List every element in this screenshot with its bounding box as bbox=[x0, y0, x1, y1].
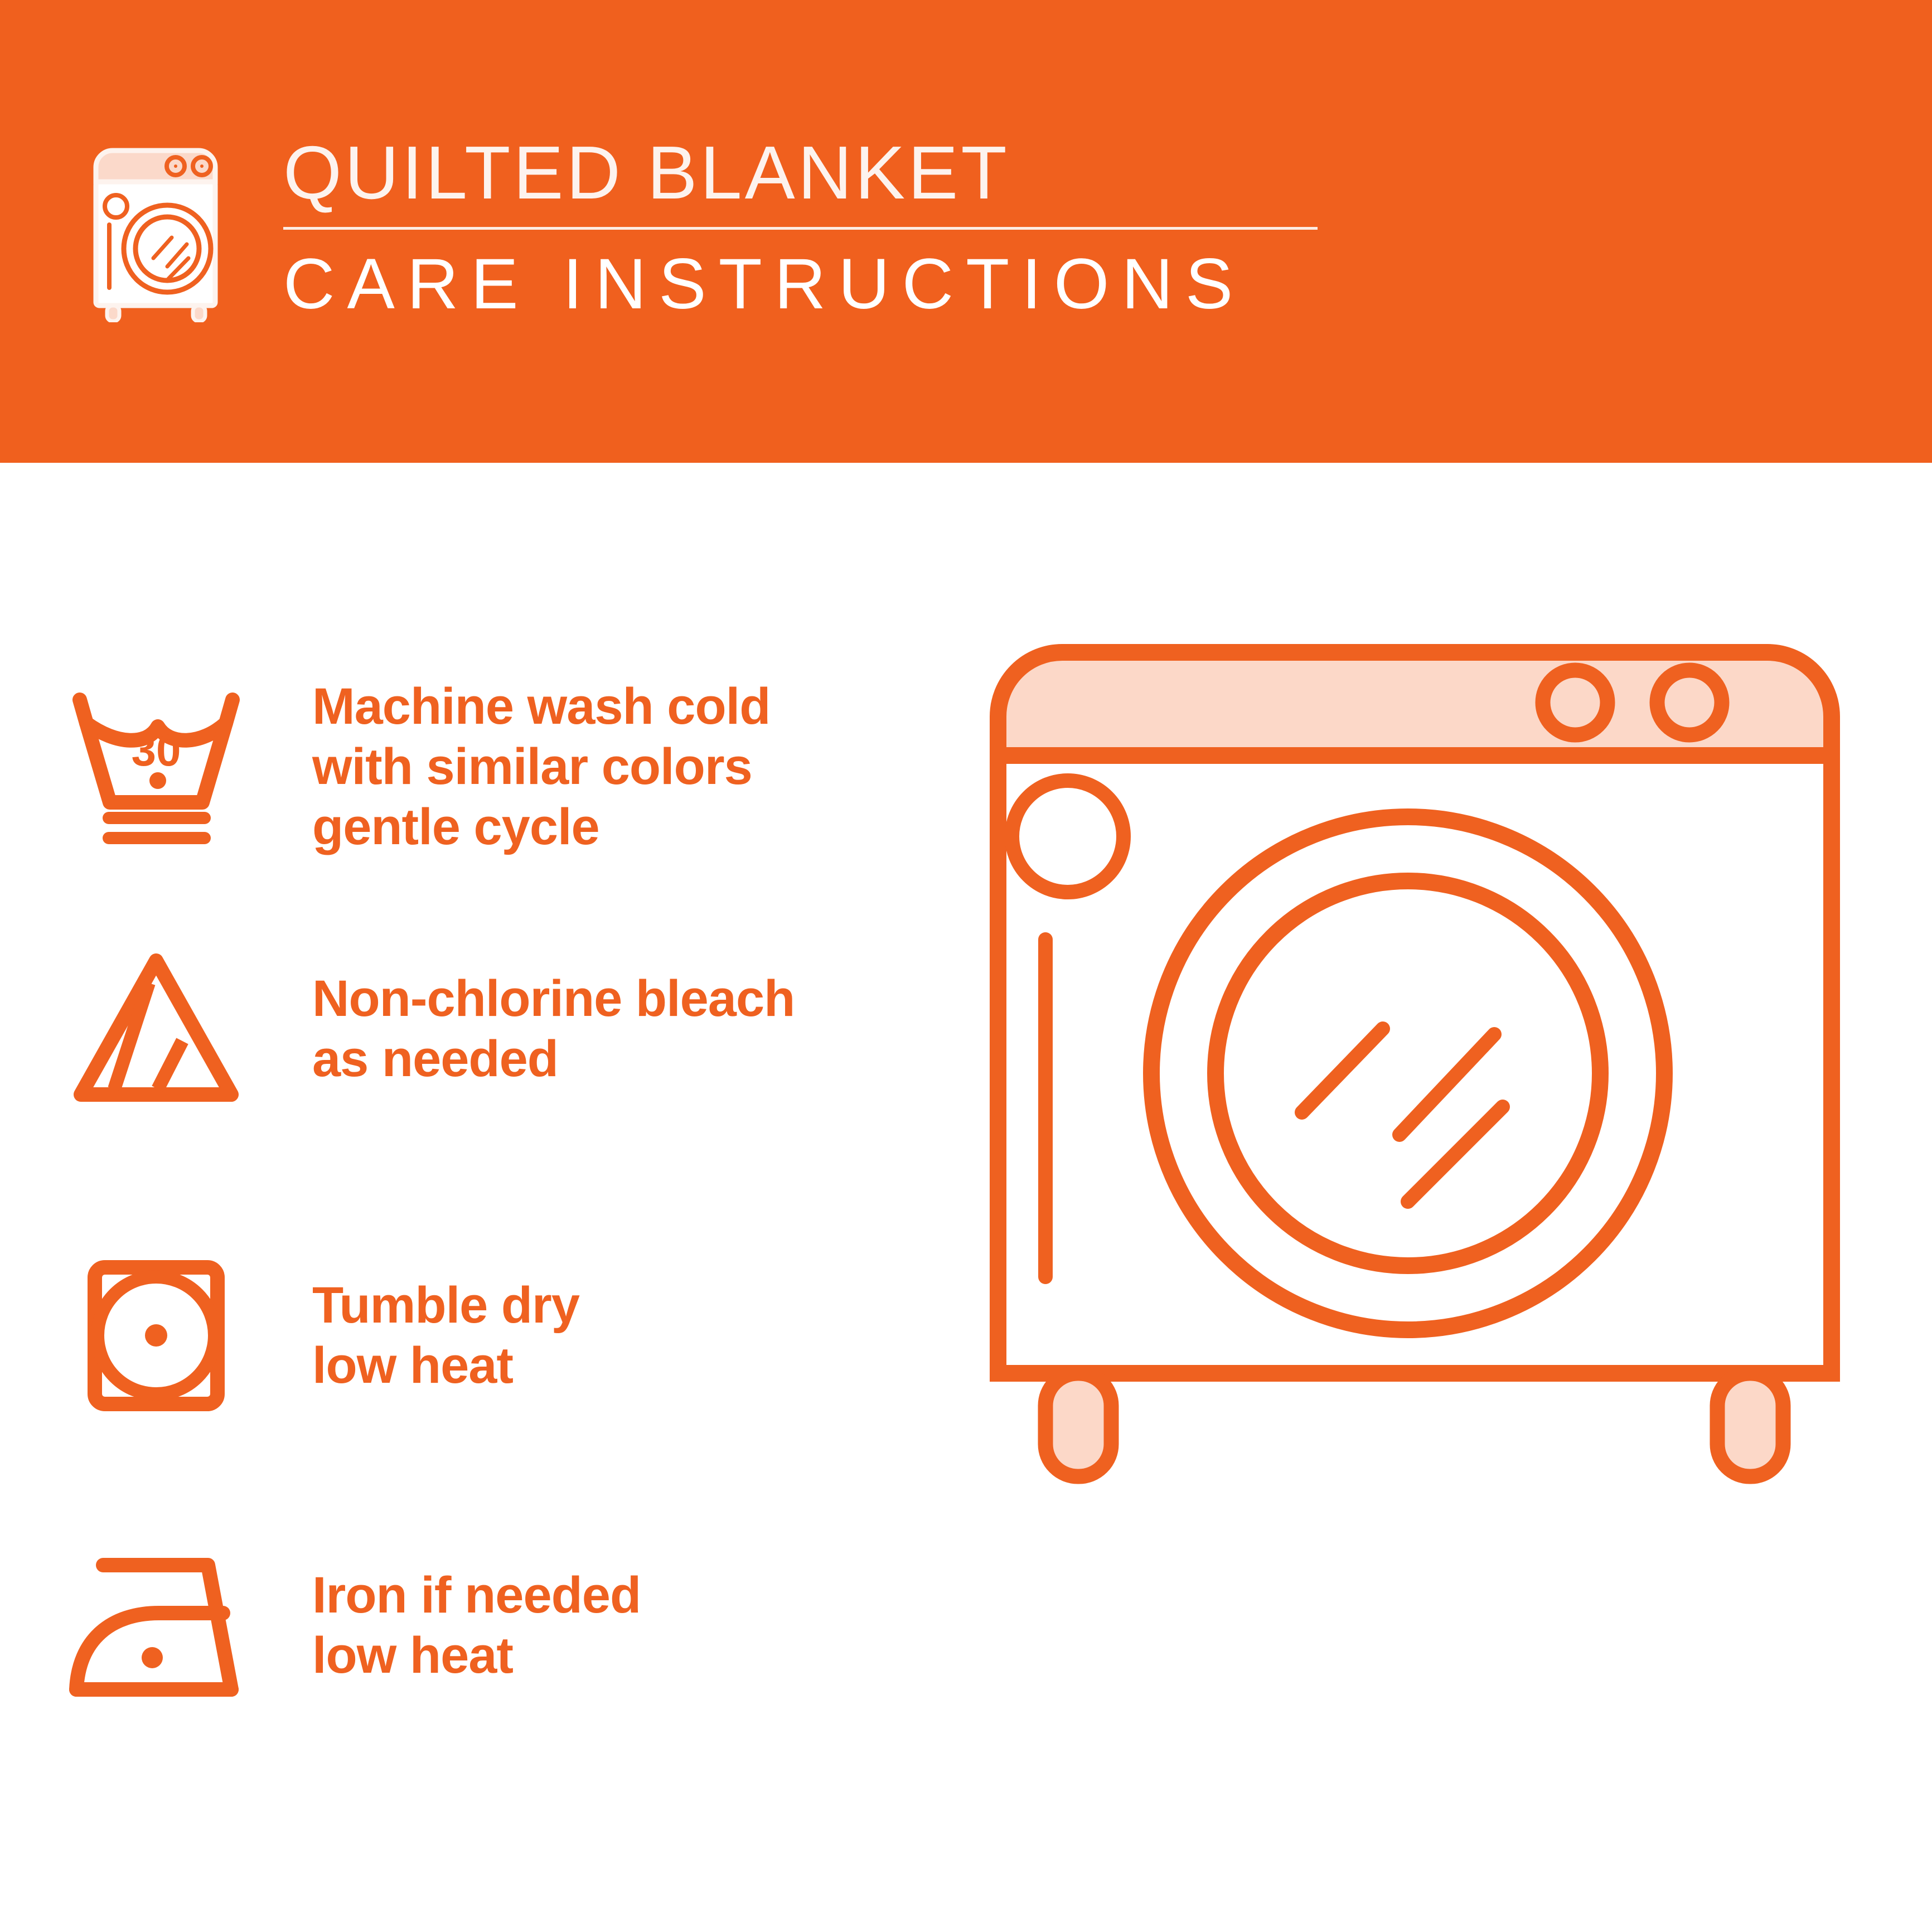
care-label-bleach: Non-chlorine bleach as needed bbox=[312, 969, 795, 1089]
care-label-line: with similar colors bbox=[312, 737, 770, 797]
care-label-tumble-dry: Tumble dry low heat bbox=[312, 1275, 579, 1396]
header-text-block: QUILTED BLANKET CARE INSTRUCTIONS bbox=[283, 131, 1326, 323]
care-label-line: low heat bbox=[312, 1335, 579, 1396]
washing-machine-icon bbox=[84, 138, 245, 322]
care-row-tumble-dry: Tumble dry low heat bbox=[0, 1227, 948, 1444]
knob-right bbox=[1657, 670, 1722, 735]
care-row-iron: Iron if needed low heat bbox=[0, 1517, 948, 1734]
wash-temperature-label: 30 bbox=[132, 725, 181, 775]
care-row-bleach: Non-chlorine bleach as needed bbox=[0, 920, 948, 1137]
tumble-dry-low-icon bbox=[0, 1252, 312, 1419]
care-label-line: gentle cycle bbox=[312, 797, 770, 857]
dry-heat-dot bbox=[145, 1324, 167, 1347]
care-label-iron: Iron if needed low heat bbox=[312, 1565, 641, 1686]
care-label-line: Tumble dry bbox=[312, 1275, 579, 1335]
leg-left bbox=[1045, 1373, 1111, 1476]
knob-left bbox=[1543, 670, 1607, 735]
care-label-line: Iron if needed bbox=[312, 1565, 641, 1625]
care-label-wash: Machine wash cold with similar colors ge… bbox=[312, 676, 770, 857]
care-label-line: low heat bbox=[312, 1625, 641, 1686]
care-row-wash: 30 Machine wash cold with similar colors… bbox=[0, 658, 948, 875]
washing-machine-illustration bbox=[967, 644, 1893, 1860]
bleach-triangle-striped-icon bbox=[0, 945, 312, 1112]
title-divider bbox=[283, 227, 1318, 230]
wash-dot bbox=[149, 772, 166, 789]
iron-heat-dot bbox=[142, 1647, 163, 1668]
header-banner: QUILTED BLANKET CARE INSTRUCTIONS bbox=[0, 0, 1932, 463]
care-label-line: Machine wash cold bbox=[312, 676, 770, 737]
care-label-line: as needed bbox=[312, 1029, 795, 1089]
page-subtitle: CARE INSTRUCTIONS bbox=[283, 245, 1326, 323]
leg-right bbox=[1717, 1373, 1783, 1476]
page-title: QUILTED BLANKET bbox=[283, 131, 1326, 215]
iron-low-heat-icon bbox=[0, 1542, 312, 1709]
wash-tub-30-gentle-icon: 30 bbox=[0, 683, 312, 850]
care-label-line: Non-chlorine bleach bbox=[312, 969, 795, 1029]
